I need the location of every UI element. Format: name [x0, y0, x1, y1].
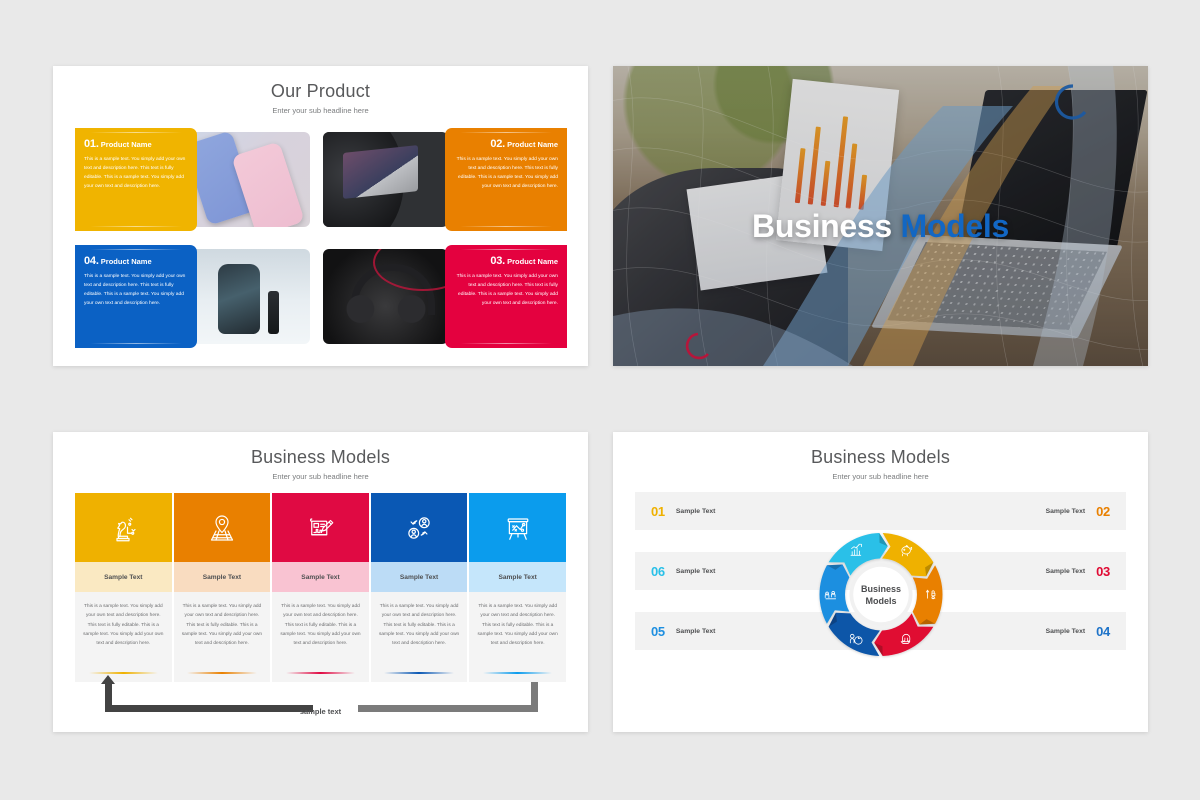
table-desc-cell-4: This is a sample text. You simply add yo…: [371, 592, 468, 682]
table-desc-cell-1: This is a sample text. You simply add yo…: [75, 592, 172, 682]
map-location-pin-icon: [174, 493, 271, 562]
table-label-cell-1: Sample Text: [75, 562, 172, 592]
product-card-04[interactable]: 04. Product Name This is a sample text. …: [75, 245, 197, 348]
slide-business-models-table[interactable]: Business Models Enter your sub headline …: [53, 432, 588, 732]
product-card-01[interactable]: 01. Product Name This is a sample text. …: [75, 128, 197, 231]
models-table-icon-row: [75, 493, 566, 562]
table-label-cell-3: Sample Text: [272, 562, 369, 592]
arrow-caption: sample text: [75, 707, 566, 716]
cycle-number-02: 02: [1096, 504, 1110, 519]
product-card-01-number: 01.: [84, 138, 99, 150]
product-card-02-body: This is a sample text. You simply add yo…: [454, 155, 558, 191]
product-card-02[interactable]: 02. Product Name This is a sample text. …: [445, 128, 567, 231]
product-card-03-name: Product Name: [507, 257, 558, 266]
table-desc-4: This is a sample text. You simply add yo…: [379, 604, 459, 646]
product-card-01-title: 01. Product Name: [84, 138, 188, 150]
cycle-number-03: 03: [1096, 564, 1110, 579]
cycle-label-03: Sample Text: [1046, 568, 1086, 575]
chess-knight-strategy-icon: [75, 493, 172, 562]
cycle-number-04: 04: [1096, 624, 1110, 639]
table-label-2: Sample Text: [174, 562, 271, 592]
table-label-5: Sample Text: [469, 562, 566, 592]
product-card-02-name: Product Name: [507, 140, 558, 149]
table-desc-cell-5: This is a sample text. You simply add yo…: [469, 592, 566, 682]
product-card-03[interactable]: 03. Product Name This is a sample text. …: [445, 245, 567, 348]
slide-deck-canvas: Our Product Enter your sub headline here…: [0, 0, 1200, 800]
table-label-3: Sample Text: [272, 562, 369, 592]
user-exchange-network-icon: [371, 493, 468, 562]
product-photo-04: [185, 249, 310, 344]
slide-business-models-cycle[interactable]: Business Models Enter your sub headline …: [613, 432, 1148, 732]
product-card-02-title: 02. Product Name: [454, 138, 558, 150]
product-card-03-title: 03. Product Name: [454, 255, 558, 267]
hero-banner: Business Models: [613, 66, 1148, 366]
product-card-04-title: 04. Product Name: [84, 255, 188, 267]
product-row-top: 01. Product Name This is a sample text. …: [75, 128, 567, 231]
table-desc-3: This is a sample text. You simply add yo…: [280, 604, 360, 646]
product-card-01-name: Product Name: [101, 140, 152, 149]
cycle-label-04: Sample Text: [1046, 628, 1086, 635]
product-grid: 01. Product Name This is a sample text. …: [75, 128, 567, 348]
table-desc-cell-2: This is a sample text. You simply add yo…: [174, 592, 271, 682]
hero-heading-white: Business: [752, 208, 892, 244]
table-label-cell-5: Sample Text: [469, 562, 566, 592]
page-title: Business Models: [53, 447, 588, 468]
table-desc-1: This is a sample text. You simply add yo…: [83, 604, 163, 646]
table-col-3[interactable]: [272, 493, 369, 562]
cycle-center-line1: Business: [841, 582, 921, 594]
product-photo-03: [323, 249, 448, 344]
product-card-03-number: 03.: [490, 255, 505, 267]
table-label-cell-4: Sample Text: [371, 562, 468, 592]
table-col-2[interactable]: [174, 493, 271, 562]
product-photo-02: [323, 132, 448, 227]
product-photo-01: [185, 132, 310, 227]
slide-our-product[interactable]: Our Product Enter your sub headline here…: [53, 66, 588, 366]
presentation-board-strategy-icon: [469, 493, 566, 562]
product-card-03-body: This is a sample text. You simply add yo…: [454, 272, 558, 308]
table-label-1: Sample Text: [75, 562, 172, 592]
cycle-center-line2: Models: [841, 595, 921, 607]
product-card-04-body: This is a sample text. You simply add yo…: [84, 272, 188, 308]
table-col-4[interactable]: [371, 493, 468, 562]
process-arrows: sample text: [75, 684, 566, 718]
slide-title-business-models[interactable]: Business Models: [613, 66, 1148, 366]
hero-heading: Business Models: [613, 208, 1148, 245]
page-subtitle: Enter your sub headline here: [53, 472, 588, 481]
cycle-center-label: Business Models: [841, 582, 921, 606]
product-card-04-name: Product Name: [101, 257, 152, 266]
table-desc-cell-3: This is a sample text. You simply add yo…: [272, 592, 369, 682]
page-subtitle: Enter your sub headline here: [53, 106, 588, 115]
models-table-desc-row: This is a sample text. You simply add yo…: [75, 592, 566, 682]
product-card-02-number: 02.: [490, 138, 505, 150]
page-title: Our Product: [53, 81, 588, 102]
table-col-5[interactable]: [469, 493, 566, 562]
blueprint-plan-icon: [272, 493, 369, 562]
models-table: Sample Text Sample Text Sample Text Samp…: [75, 493, 566, 682]
table-desc-5: This is a sample text. You simply add yo…: [478, 604, 558, 646]
table-label-cell-2: Sample Text: [174, 562, 271, 592]
table-label-4: Sample Text: [371, 562, 468, 592]
hero-heading-accent: Models: [901, 208, 1009, 244]
models-table-label-row: Sample Text Sample Text Sample Text Samp…: [75, 562, 566, 592]
cycle-donut-chart[interactable]: Business Models: [806, 477, 956, 712]
product-card-04-number: 04.: [84, 255, 99, 267]
product-row-bottom: 04. Product Name This is a sample text. …: [75, 245, 567, 348]
table-desc-2: This is a sample text. You simply add yo…: [182, 604, 262, 646]
product-card-01-body: This is a sample text. You simply add yo…: [84, 155, 188, 191]
table-col-1[interactable]: [75, 493, 172, 562]
cycle-label-02: Sample Text: [1046, 508, 1086, 515]
page-title: Business Models: [613, 447, 1148, 468]
